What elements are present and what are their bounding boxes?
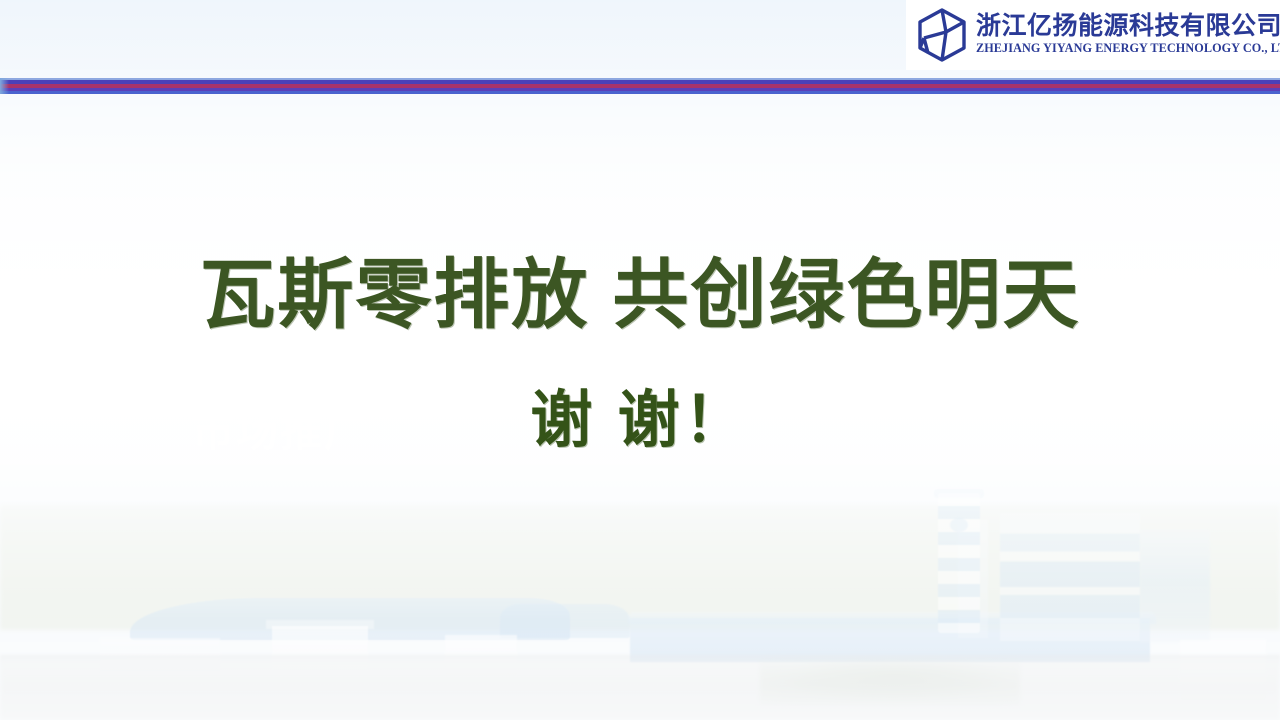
company-name-block: 浙江亿扬能源科技有限公司 ZHEJIANG YIYANG ENERGY TECH…	[976, 13, 1280, 56]
chimney-logo-mark	[950, 518, 968, 532]
striped-chimney	[938, 493, 980, 633]
presentation-slide: 浙江亿扬能源科技有限公司 ZHEJIANG YIYANG ENERGY TECH…	[0, 0, 1280, 720]
stripe-blue	[0, 91, 1280, 94]
headline-thanks-text: 谢 谢！	[0, 390, 1280, 452]
headline-main-text: 瓦斯零排放 共创绿色明天	[0, 258, 1280, 334]
secondary-plant-building	[1140, 530, 1210, 642]
hexagon-crystal-logo-icon	[916, 7, 968, 63]
main-plant-building	[1000, 513, 1140, 641]
company-name-en: ZHEJIANG YIYANG ENERGY TECHNOLOGY CO., L…	[976, 41, 1280, 56]
stripe-bar-left-cap	[0, 78, 9, 94]
company-logo-plate: 浙江亿扬能源科技有限公司 ZHEJIANG YIYANG ENERGY TECH…	[906, 0, 1280, 70]
header-stripe-bar	[0, 78, 1280, 94]
headline-block: 瓦斯零排放 共创绿色明天 谢 谢！	[0, 258, 1280, 452]
factory-hall-left-annex	[500, 604, 630, 638]
foreground-yard	[0, 662, 1280, 720]
company-name-cn: 浙江亿扬能源科技有限公司	[976, 13, 1280, 40]
